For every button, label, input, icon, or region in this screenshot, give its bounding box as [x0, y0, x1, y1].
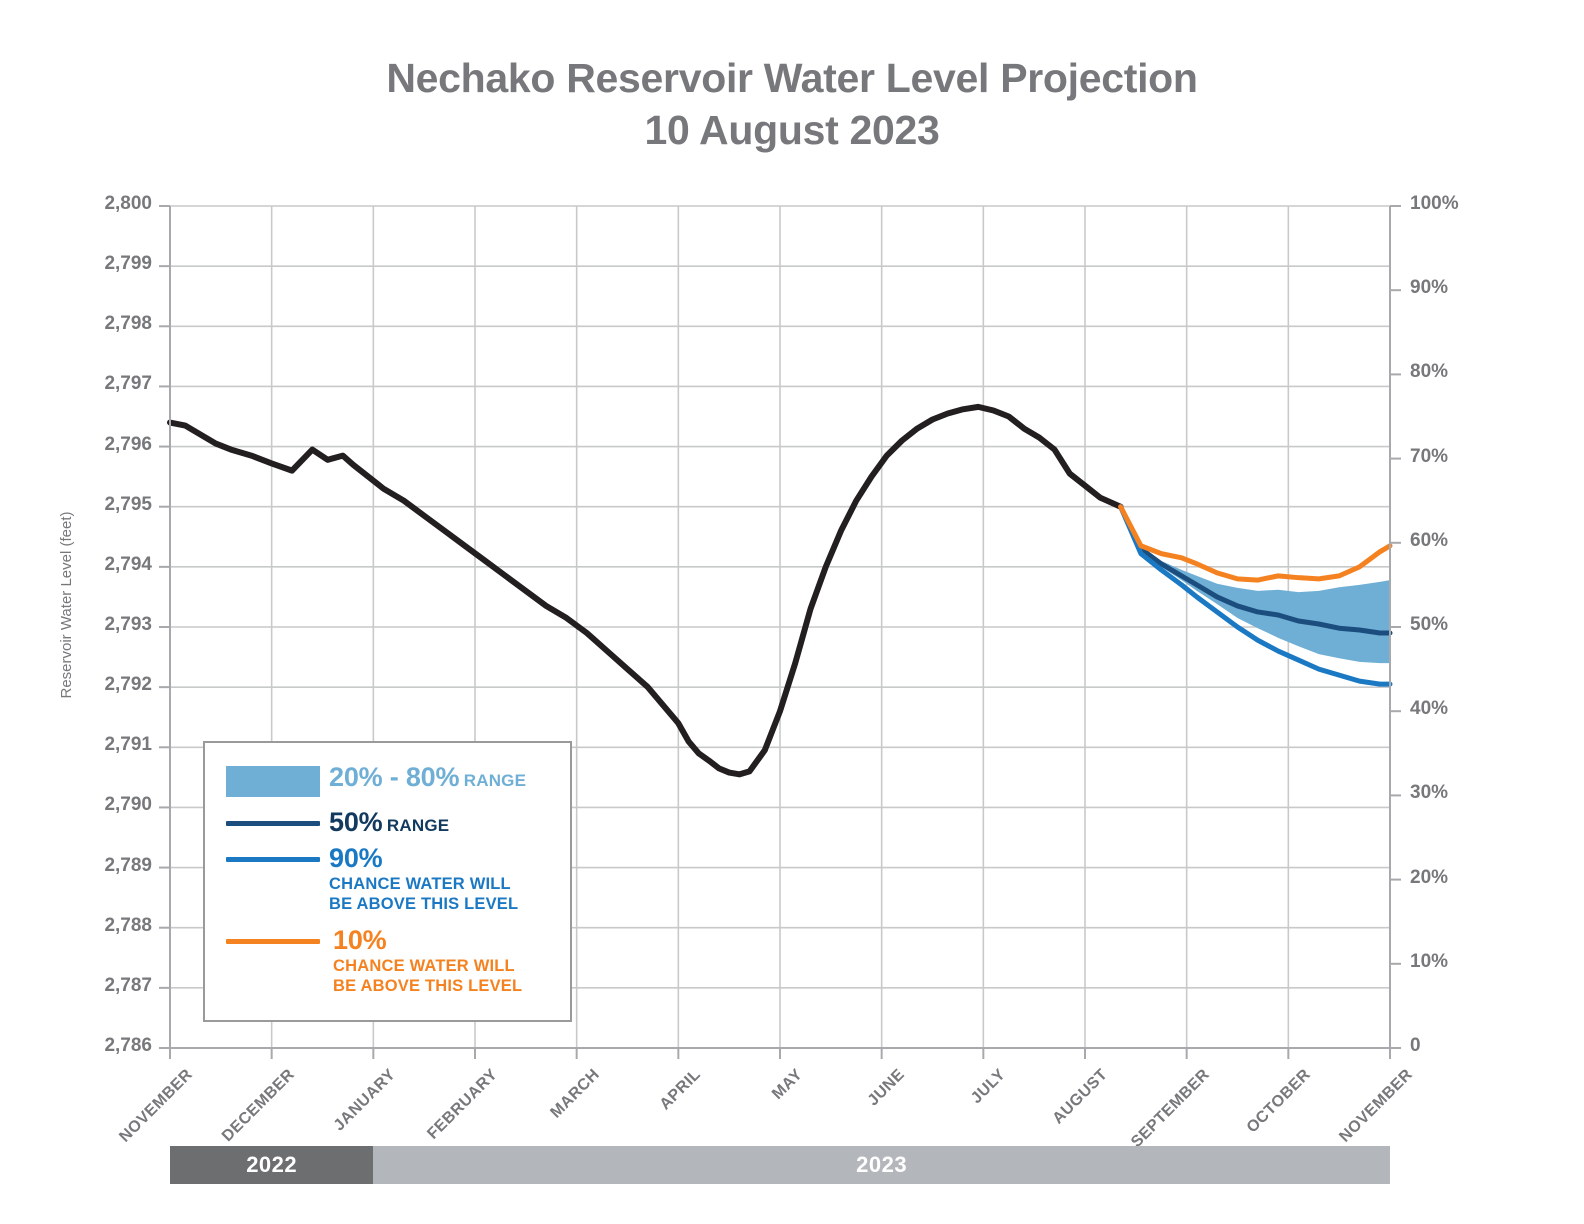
- legend-p10-big: 10%: [333, 925, 386, 955]
- legend-label-p50: 50% RANGE: [329, 807, 449, 838]
- chart-container: Nechako Reservoir Water Level Projection…: [0, 0, 1584, 1224]
- year-segment-2023: 2023: [373, 1146, 1390, 1184]
- y-tick-left: 2,786: [104, 1035, 152, 1057]
- legend-p90-big: 90%: [329, 843, 382, 873]
- y-tick-left: 2,790: [104, 794, 152, 816]
- y-tick-right: 70%: [1410, 446, 1448, 468]
- y-tick-left: 2,798: [104, 313, 152, 335]
- y-tick-left: 2,800: [104, 193, 152, 215]
- legend-line-p50: [226, 821, 320, 826]
- legend-band-small: RANGE: [464, 771, 526, 790]
- y-tick-left: 2,792: [104, 674, 152, 696]
- year-bar: 20222023: [170, 1146, 1390, 1184]
- plot-area: [0, 0, 1584, 1224]
- legend-band-big: 20% - 80%: [329, 762, 459, 792]
- y-tick-right: 0: [1410, 1035, 1421, 1057]
- y-tick-right: 30%: [1410, 782, 1448, 804]
- y-tick-left: 2,799: [104, 253, 152, 275]
- y-tick-left: 2,788: [104, 915, 152, 937]
- y-tick-left: 2,794: [104, 554, 152, 576]
- legend-p50-small: RANGE: [387, 816, 449, 835]
- y-tick-right: 80%: [1410, 361, 1448, 383]
- y-tick-left: 2,797: [104, 373, 152, 395]
- legend-p90-sub-line1: CHANCE WATER WILL: [329, 874, 518, 894]
- legend-line-p90: [226, 857, 320, 862]
- y-tick-right: 40%: [1410, 698, 1448, 720]
- legend-p10-sub-line2: BE ABOVE THIS LEVEL: [333, 976, 522, 996]
- y-tick-left: 2,791: [104, 734, 152, 756]
- y-tick-left: 2,787: [104, 975, 152, 997]
- y-tick-left: 2,795: [104, 494, 152, 516]
- legend-sub-p90: CHANCE WATER WILL BE ABOVE THIS LEVEL: [329, 874, 518, 914]
- y-tick-right: 50%: [1410, 614, 1448, 636]
- legend-label-p90: 90%: [329, 843, 382, 874]
- legend-swatch-band: [226, 766, 320, 797]
- legend-p50-big: 50%: [329, 807, 382, 837]
- y-tick-right: 60%: [1410, 530, 1448, 552]
- y-tick-right: 100%: [1410, 193, 1459, 215]
- legend-p90-sub-line2: BE ABOVE THIS LEVEL: [329, 894, 518, 914]
- y-tick-left: 2,789: [104, 855, 152, 877]
- y-tick-left: 2,793: [104, 614, 152, 636]
- legend-line-p10: [226, 939, 320, 944]
- legend-label-p10: 10%: [333, 925, 386, 956]
- y-tick-right: 10%: [1410, 951, 1448, 973]
- legend-p10-sub-line1: CHANCE WATER WILL: [333, 956, 522, 976]
- legend-label-band: 20% - 80% RANGE: [329, 762, 526, 793]
- y-tick-right: 20%: [1410, 867, 1448, 889]
- y-tick-right: 90%: [1410, 277, 1448, 299]
- y-tick-left: 2,796: [104, 434, 152, 456]
- legend-sub-p10: CHANCE WATER WILL BE ABOVE THIS LEVEL: [333, 956, 522, 996]
- year-segment-2022: 2022: [170, 1146, 373, 1184]
- chart-legend: 20% - 80% RANGE 50% RANGE 90% CHANCE WAT…: [203, 741, 572, 1022]
